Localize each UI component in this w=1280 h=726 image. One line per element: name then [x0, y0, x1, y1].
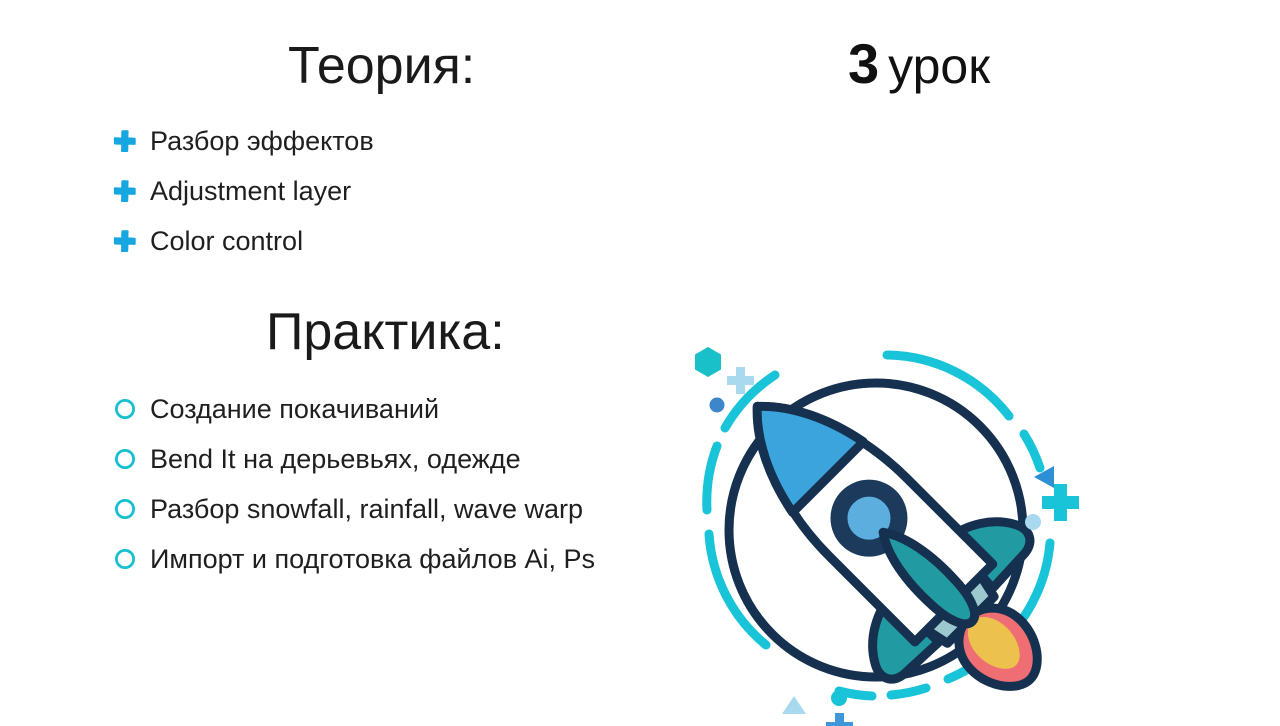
lesson-badge: 3урок: [848, 36, 990, 92]
practice-list: Создание покачиваний Bend It на дерьевья…: [112, 384, 595, 584]
list-item-label: Разбор эффектов: [150, 128, 374, 155]
plus-icon: [1042, 484, 1079, 521]
circle-outline-icon: [112, 396, 138, 422]
dot-icon: [1025, 514, 1041, 530]
list-item-label: Color control: [150, 228, 303, 255]
lesson-word: урок: [888, 38, 990, 94]
lesson-number: 3: [848, 32, 878, 95]
list-item[interactable]: Adjustment layer: [112, 166, 374, 216]
dot-icon: [710, 398, 725, 413]
list-item[interactable]: Разбор snowfall, rainfall, wave warp: [112, 484, 595, 534]
list-item[interactable]: Импорт и подготовка файлов Ai, Ps: [112, 534, 595, 584]
list-item-label: Adjustment layer: [150, 178, 351, 205]
plus-icon: [112, 178, 138, 204]
list-item[interactable]: Bend It на дерьевьях, одежде: [112, 434, 595, 484]
circle-outline-icon: [112, 446, 138, 472]
list-item[interactable]: Color control: [112, 216, 374, 266]
list-item-label: Bend It на дерьевьях, одежде: [150, 446, 521, 473]
plus-icon: [112, 228, 138, 254]
list-item[interactable]: Разбор эффектов: [112, 116, 374, 166]
triangle-icon: [782, 696, 806, 714]
hexagon-icon: [695, 347, 721, 377]
rocket-illustration: [676, 338, 1086, 726]
theory-heading: Теория:: [288, 40, 475, 92]
dot-icon: [831, 690, 847, 706]
list-item[interactable]: Создание покачиваний: [112, 384, 595, 434]
circle-outline-icon: [112, 496, 138, 522]
practice-heading: Практика:: [266, 306, 505, 358]
circle-outline-icon: [112, 546, 138, 572]
plus-icon: [826, 713, 853, 726]
list-item-label: Импорт и подготовка файлов Ai, Ps: [150, 546, 595, 573]
list-item-label: Разбор snowfall, rainfall, wave warp: [150, 496, 583, 523]
slide-root: Теория: 3урок Разбор эффектов Adjustment…: [0, 0, 1280, 726]
plus-icon: [112, 128, 138, 154]
list-item-label: Создание покачиваний: [150, 396, 439, 423]
theory-list: Разбор эффектов Adjustment layer Color c…: [112, 116, 374, 266]
